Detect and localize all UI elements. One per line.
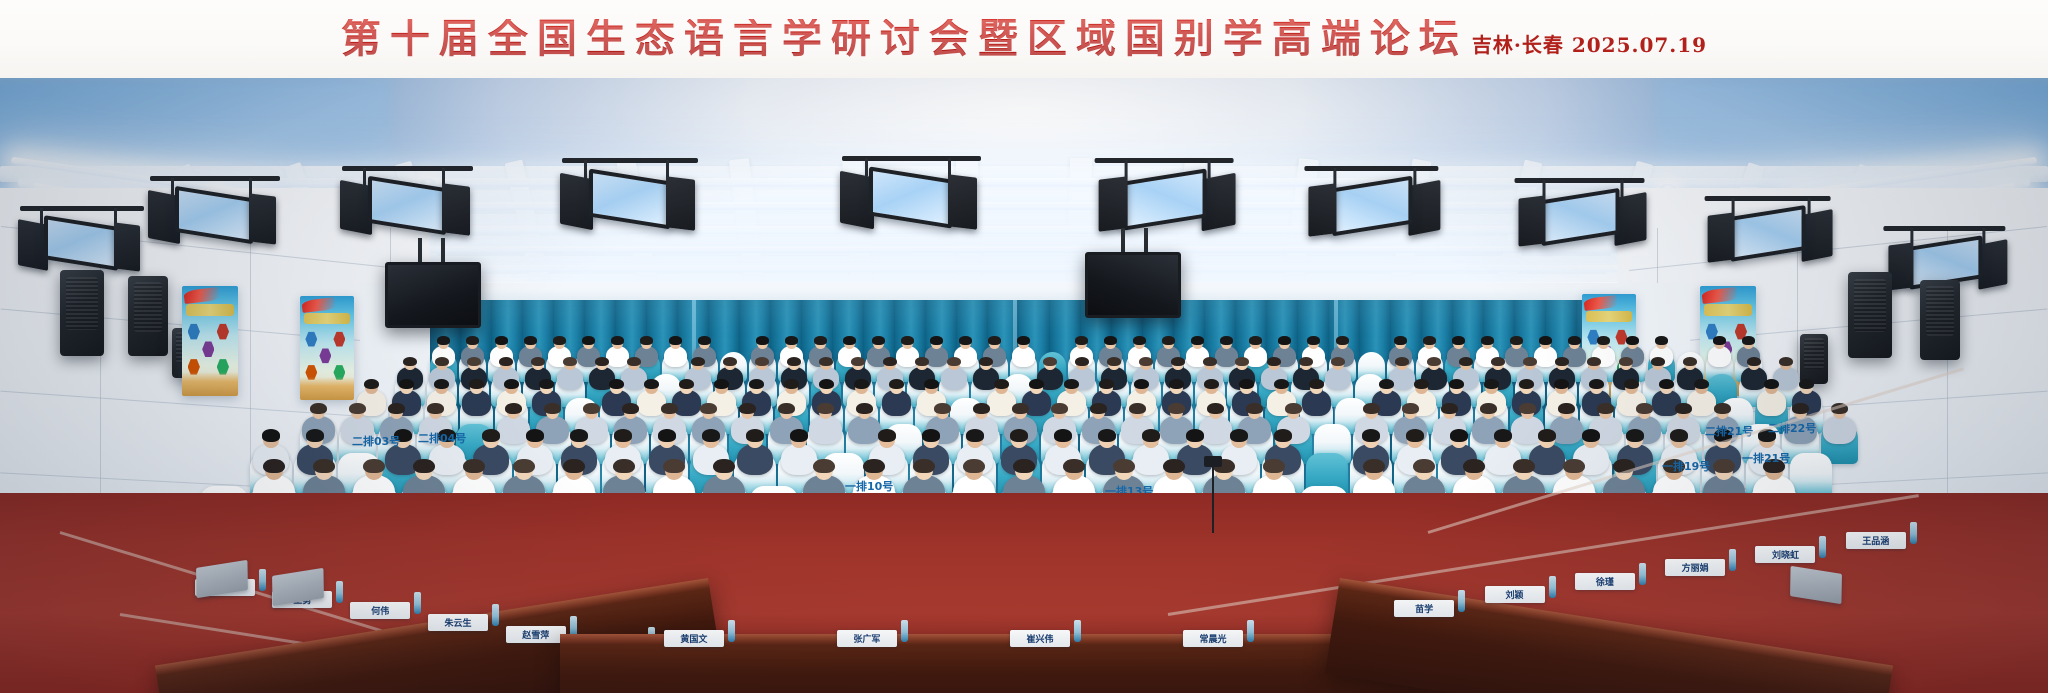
water-bottle <box>1729 549 1736 571</box>
water-bottle <box>1549 576 1556 598</box>
delegate-desks: 王学军王勇何伟朱云生赵雪萍陈燕琳刘志成黄国文张广军崔兴伟常晨光于晖苗学刘颖徐瑾方… <box>0 78 2048 693</box>
water-bottle <box>1910 522 1917 544</box>
location-date-label: 吉林·长春 2025.07.19 <box>1472 35 1707 55</box>
water-bottle <box>492 604 499 626</box>
desk-nameplate: 赵雪萍 <box>506 626 566 643</box>
desk-nameplate: 黄国文 <box>664 630 724 647</box>
water-bottle <box>336 581 343 603</box>
water-bottle <box>414 592 421 614</box>
desk-nameplate: 朱云生 <box>428 614 488 631</box>
auditorium-photo: 一排10号一排13号一排19号一排21号二排21号二排22号二排03号二排04号… <box>0 78 2048 693</box>
water-bottle <box>901 620 908 642</box>
laptop <box>1790 566 1842 604</box>
water-bottle <box>1639 563 1646 585</box>
desk-nameplate: 刘颖 <box>1485 586 1545 603</box>
desk-nameplate: 刘晓虹 <box>1755 546 1815 563</box>
title-banner: 第十届全国生态语言学研讨会暨区域国别学高端论坛 吉林·长春 2025.07.19 <box>0 0 2048 78</box>
desk-nameplate: 常晨光 <box>1183 630 1243 647</box>
water-bottle <box>1819 536 1826 558</box>
desk-nameplate: 徐瑾 <box>1575 573 1635 590</box>
camera-tripod-head <box>1204 456 1222 467</box>
desk-nameplate: 苗学 <box>1394 600 1454 617</box>
water-bottle <box>1247 620 1254 642</box>
water-bottle <box>728 620 735 642</box>
water-bottle <box>1458 590 1465 612</box>
desk-nameplate: 方丽娟 <box>1665 559 1725 576</box>
camera-tripod-leg <box>1212 463 1214 533</box>
banner-text-group: 第十届全国生态语言学研讨会暨区域国别学高端论坛 吉林·长春 2025.07.19 <box>341 19 1707 59</box>
desk-nameplate: 张广军 <box>837 630 897 647</box>
page-title: 第十届全国生态语言学研讨会暨区域国别学高端论坛 <box>341 19 1468 59</box>
water-bottle <box>259 569 266 591</box>
desk-nameplate: 崔兴伟 <box>1010 630 1070 647</box>
conference-photo-page: 第十届全国生态语言学研讨会暨区域国别学高端论坛 吉林·长春 2025.07.19 <box>0 0 2048 693</box>
water-bottle <box>1074 620 1081 642</box>
desk-nameplate: 何伟 <box>350 602 410 619</box>
desk-nameplate: 王品涵 <box>1846 532 1906 549</box>
